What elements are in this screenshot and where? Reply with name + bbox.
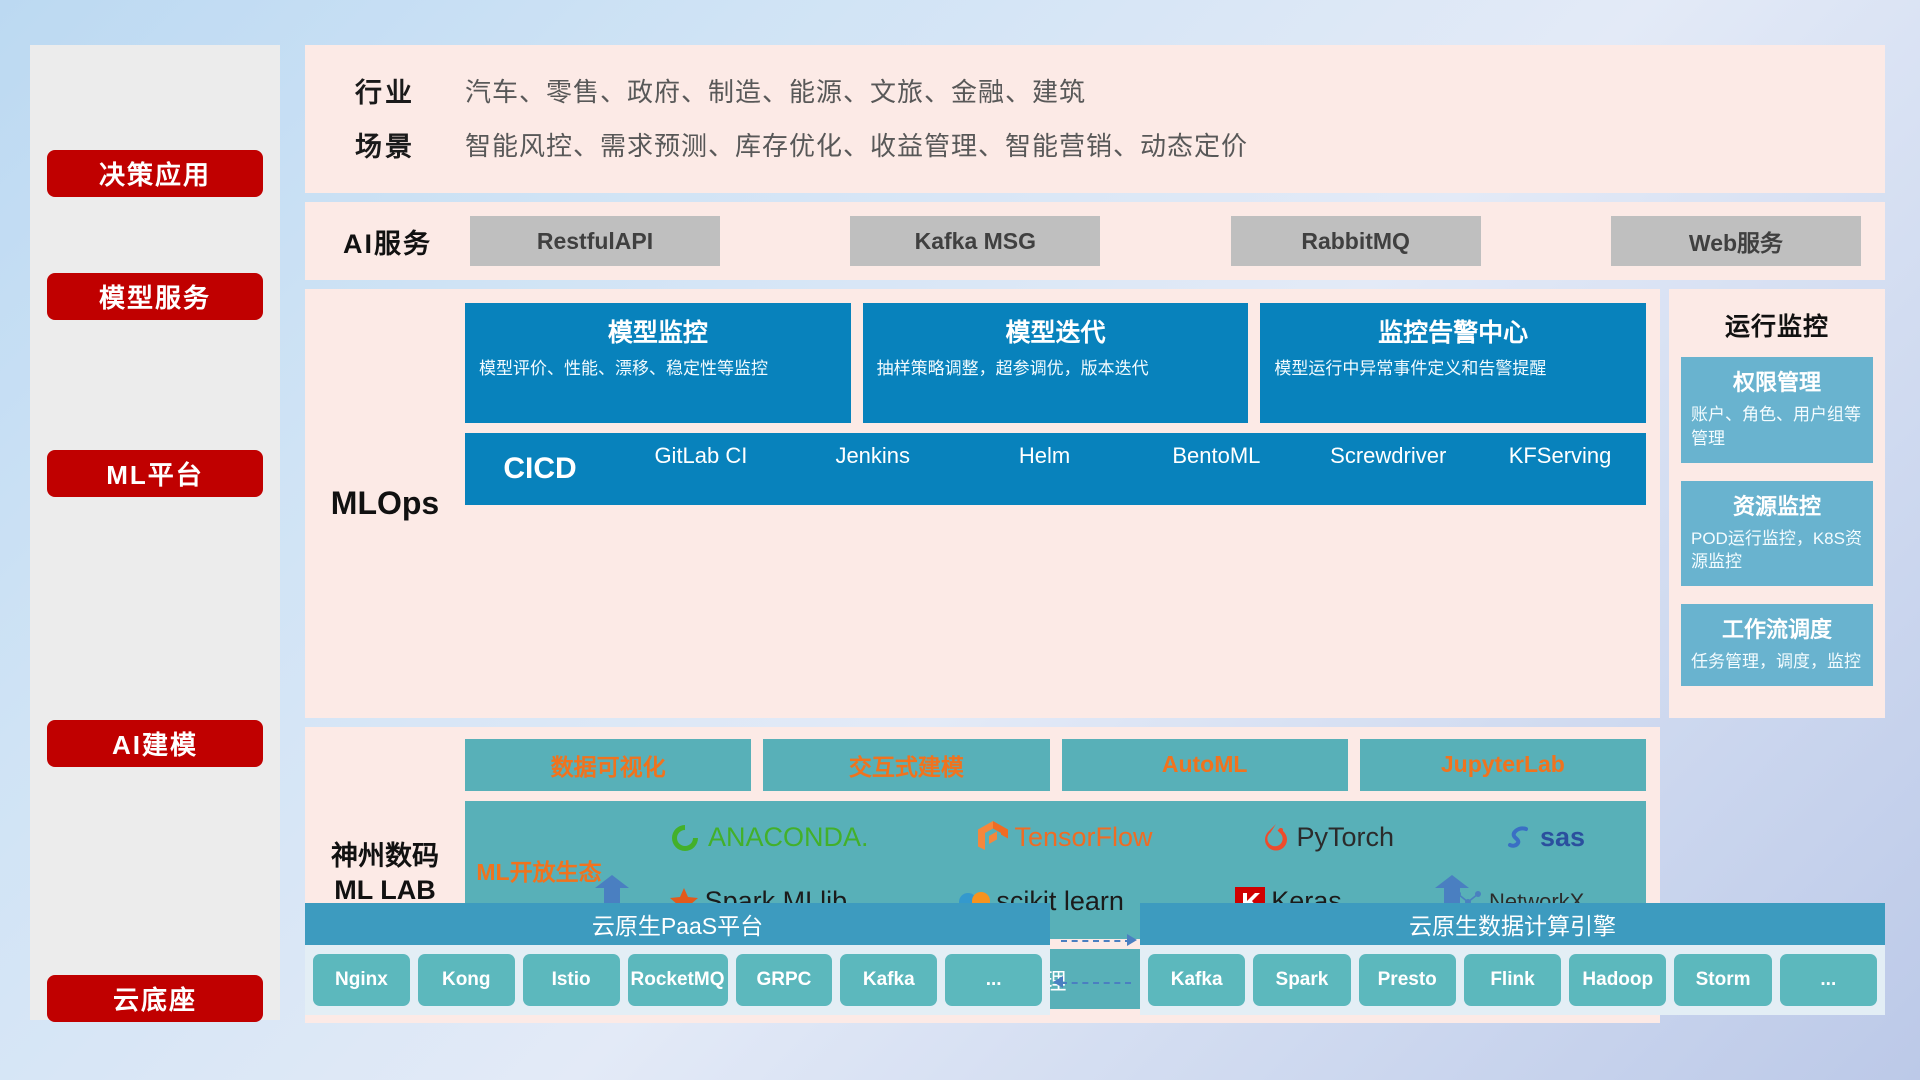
paas-chip-nginx[interactable]: Nginx [313,954,410,1006]
ml-lab-tab-list: 数据可视化 交互式建模 AutoML JupyterLab [465,739,1646,791]
cicd-item-list: GitLab CI Jenkins Helm BentoML Screwdriv… [615,444,1646,494]
cicd-row: CICD GitLab CI Jenkins Helm BentoML Scre… [465,433,1646,505]
paas-chip-istio[interactable]: Istio [523,954,620,1006]
paas-chip-rocketmq[interactable]: RocketMQ [628,954,728,1006]
tensorflow-logo-text: TensorFlow [1014,822,1152,853]
ai-service-band: AI服务 RestfulAPI Kafka MSG RabbitMQ Web服务 [305,202,1885,280]
ai-service-chip-list: RestfulAPI Kafka MSG RabbitMQ Web服务 [470,216,1885,266]
sas-logo-text: sas [1540,822,1585,853]
tab-interactive-modeling[interactable]: 交互式建模 [763,739,1049,791]
rail-item-ai-modeling[interactable]: AI建模 [47,720,263,767]
cicd-label: CICD [465,452,615,486]
tab-automl[interactable]: AutoML [1062,739,1348,791]
industry-label: 行业 [305,71,465,110]
dce-chip-spark[interactable]: Spark [1253,954,1350,1006]
ai-service-chip-web[interactable]: Web服务 [1611,216,1861,266]
logo-row-1: ANACONDA. TensorFlow [613,807,1640,869]
monitor-card-desc: POD运行监控，K8S资源监控 [1691,527,1863,575]
rail-item-model-service[interactable]: 模型服务 [47,273,263,320]
runtime-monitor-column: 运行监控 权限管理 账户、角色、用户组等管理 资源监控 POD运行监控，K8S资… [1669,289,1885,718]
monitor-card-title: 资源监控 [1691,489,1863,521]
tensorflow-icon [978,821,1008,855]
ai-service-label: AI服务 [305,222,470,261]
paas-chip-more[interactable]: ... [945,954,1042,1006]
mlops-body: 模型监控 模型评价、性能、漂移、稳定性等监控 模型迭代 抽样策略调整，超参调优，… [465,303,1646,704]
bidirectional-link-arrows [1057,930,1135,1000]
tensorflow-logo: TensorFlow [978,821,1152,855]
monitor-card-workflow[interactable]: 工作流调度 任务管理，调度，监控 [1681,604,1873,686]
decision-applications-band: 行业 汽车、零售、政府、制造、能源、文旅、金融、建筑 场景 智能风控、需求预测、… [305,45,1885,193]
cicd-item-kfserving[interactable]: KFServing [1474,444,1646,494]
dce-chip-hadoop[interactable]: Hadoop [1569,954,1666,1006]
monitor-card-title: 权限管理 [1691,365,1863,397]
anaconda-logo-text: ANACONDA. [708,822,869,853]
mlops-card-desc: 模型评价、性能、漂移、稳定性等监控 [479,357,837,382]
arrow-head-right-icon [1127,934,1137,946]
ml-lab-label-line1: 神州数码 [331,840,439,874]
sas-logo: sas [1504,822,1585,853]
tab-data-visualization[interactable]: 数据可视化 [465,739,751,791]
paas-chip-grpc[interactable]: GRPC [736,954,833,1006]
cicd-item-helm[interactable]: Helm [959,444,1131,494]
data-compute-engine-panel: 云原生数据计算引擎 Kafka Spark Presto Flink Hadoo… [1140,903,1885,1015]
anaconda-logo: ANACONDA. [668,821,869,855]
monitor-card-desc: 任务管理，调度，监控 [1691,650,1863,674]
arrow-head-left-icon [1053,976,1063,988]
mlops-card-alert-center[interactable]: 监控告警中心 模型运行中异常事件定义和告警提醒 [1260,303,1646,423]
paas-title: 云原生PaaS平台 [305,903,1050,945]
monitor-card-desc: 账户、角色、用户组等管理 [1691,403,1863,451]
ai-service-chip-restfulapi[interactable]: RestfulAPI [470,216,720,266]
arrow-up-paas-icon [595,875,629,905]
dce-chip-kafka[interactable]: Kafka [1148,954,1245,1006]
cloud-base-zone: 云原生PaaS平台 Nginx Kong Istio RocketMQ GRPC… [305,875,1885,1035]
pytorch-logo-text: PyTorch [1296,822,1394,853]
tab-jupyterlab[interactable]: JupyterLab [1360,739,1646,791]
mlops-section: MLOps 模型监控 模型评价、性能、漂移、稳定性等监控 模型迭代 抽样策略调整… [305,289,1885,718]
anaconda-icon [668,821,702,855]
left-rail: 决策应用 模型服务 ML平台 AI建模 云底座 [30,45,280,1020]
monitor-card-title: 工作流调度 [1691,612,1863,644]
paas-chip-list: Nginx Kong Istio RocketMQ GRPC Kafka ... [305,945,1050,1015]
cicd-item-gitlab-ci[interactable]: GitLab CI [615,444,787,494]
mlops-card-model-iteration[interactable]: 模型迭代 抽样策略调整，超参调优，版本迭代 [863,303,1249,423]
dce-title: 云原生数据计算引擎 [1140,903,1885,945]
scenario-row: 场景 智能风控、需求预测、库存优化、收益管理、智能营销、动态定价 [305,117,1885,171]
cicd-item-jenkins[interactable]: Jenkins [787,444,959,494]
scenario-value: 智能风控、需求预测、库存优化、收益管理、智能营销、动态定价 [465,126,1248,163]
ai-service-chip-kafka-msg[interactable]: Kafka MSG [850,216,1100,266]
rail-item-ml-platform[interactable]: ML平台 [47,450,263,497]
mlops-card-title: 监控告警中心 [1274,313,1632,349]
ai-service-chip-rabbitmq[interactable]: RabbitMQ [1231,216,1481,266]
mlops-card-desc: 抽样策略调整，超参调优，版本迭代 [877,357,1235,382]
runtime-monitor-title: 运行监控 [1681,307,1873,343]
dashed-line-top [1061,940,1131,942]
dce-chip-flink[interactable]: Flink [1464,954,1561,1006]
mlops-card-list: 模型监控 模型评价、性能、漂移、稳定性等监控 模型迭代 抽样策略调整，超参调优，… [465,303,1646,423]
industry-value: 汽车、零售、政府、制造、能源、文旅、金融、建筑 [465,72,1086,109]
rail-item-decision[interactable]: 决策应用 [47,150,263,197]
dce-chip-presto[interactable]: Presto [1359,954,1456,1006]
rail-item-cloud-base[interactable]: 云底座 [47,975,263,1022]
arrow-up-dce-icon [1435,875,1469,905]
paas-panel: 云原生PaaS平台 Nginx Kong Istio RocketMQ GRPC… [305,903,1050,1015]
cicd-item-bentoml[interactable]: BentoML [1130,444,1302,494]
mlops-card-title: 模型迭代 [877,313,1235,349]
monitor-card-resource[interactable]: 资源监控 POD运行监控，K8S资源监控 [1681,481,1873,587]
mlops-band: MLOps 模型监控 模型评价、性能、漂移、稳定性等监控 模型迭代 抽样策略调整… [305,289,1660,718]
dashed-line-bottom [1061,982,1131,984]
sas-icon [1504,823,1534,853]
mlops-card-desc: 模型运行中异常事件定义和告警提醒 [1274,357,1632,382]
monitor-card-permission[interactable]: 权限管理 账户、角色、用户组等管理 [1681,357,1873,463]
paas-chip-kong[interactable]: Kong [418,954,515,1006]
cicd-item-screwdriver[interactable]: Screwdriver [1302,444,1474,494]
scenario-label: 场景 [305,125,465,164]
dce-chip-storm[interactable]: Storm [1674,954,1771,1006]
mlops-card-model-monitoring[interactable]: 模型监控 模型评价、性能、漂移、稳定性等监控 [465,303,851,423]
paas-chip-kafka[interactable]: Kafka [840,954,937,1006]
industry-row: 行业 汽车、零售、政府、制造、能源、文旅、金融、建筑 [305,63,1885,117]
mlops-card-title: 模型监控 [479,313,837,349]
pytorch-logo: PyTorch [1262,822,1394,854]
dce-chip-list: Kafka Spark Presto Flink Hadoop Storm ..… [1140,945,1885,1015]
mlops-label: MLOps [305,303,465,704]
pytorch-icon [1262,822,1290,854]
dce-chip-more[interactable]: ... [1780,954,1877,1006]
